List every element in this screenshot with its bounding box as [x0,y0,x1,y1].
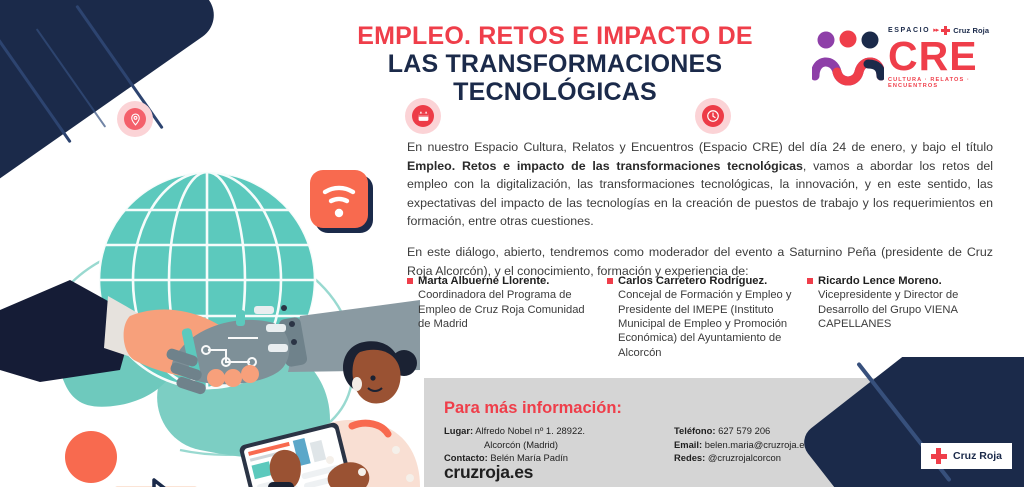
footer-telefono-value: 627 579 206 [718,425,770,436]
speakers-list: Marta Albuerne Llorente. Coordinadora de… [407,274,1007,360]
speaker-item: Ricardo Lence Moreno. Vicepresidente y D… [807,274,997,360]
footer-column-contact: Teléfono: 627 579 206 Email: belen.maria… [674,424,809,465]
footer-email-row: Email: belen.maria@cruzroja.es [674,438,809,452]
footer-telefono-label: Teléfono: [674,425,716,436]
cre-tagline: CULTURA · RELATOS · ENCUENTROS [888,77,1006,89]
bullet-square-icon [807,278,813,284]
footer-redes-label: Redes: [674,452,705,463]
speaker-name-row: Ricardo Lence Moreno. [807,274,997,288]
speaker-name-row: Carlos Carretero Rodríguez. [607,274,797,288]
red-cross-icon [931,448,947,464]
footer-redes-value: @cruzrojalcorcon [708,452,781,463]
footer-heading: Para más información: [444,399,622,418]
paragraph-1: En nuestro Espacio Cultura, Relatos y En… [407,138,993,231]
cruz-roja-badge: Cruz Roja [921,443,1012,469]
cursor-arrow-icon [154,480,200,487]
speaker-name-row: Marta Albuerne Llorente. [407,274,597,288]
speaker-name: Ricardo Lence Moreno. [818,274,942,288]
bullet-square-icon [407,278,413,284]
illustration-handshake-technology [0,120,420,487]
cre-logo: ESPACIO ▸▸ Cruz Roja CRE CULTURA · RELAT… [812,24,1002,96]
speaker-name: Marta Albuerne Llorente. [418,274,549,288]
footer-column-address: Lugar: Alfredo Nobel nº 1. 28922. Alcorc… [444,424,585,465]
title-line-1: EMPLEO. RETOS E IMPACTO DE [300,22,810,50]
bullet-square-icon [607,278,613,284]
p1-part-a: En nuestro Espacio Cultura, Relatos y En… [407,140,993,154]
speaker-name: Carlos Carretero Rodríguez. [618,274,767,288]
title-line-2: LAS TRANSFORMACIONES TECNOLÓGICAS [300,50,810,106]
speaker-item: Carlos Carretero Rodríguez. Concejal de … [607,274,797,360]
body-copy: En nuestro Espacio Cultura, Relatos y En… [407,138,993,292]
footer-lugar-value: Alfredo Nobel nº 1. 28922. [475,425,585,436]
red-cross-icon [941,26,950,35]
footer-lugar-row: Lugar: Alfredo Nobel nº 1. 28922. [444,424,585,438]
footer-email-label: Email: [674,439,702,450]
speaker-role: Vicepresidente y Director de Desarrollo … [807,288,997,331]
footer-telefono-row: Teléfono: 627 579 206 [674,424,809,438]
page-title: EMPLEO. RETOS E IMPACTO DE LAS TRANSFORM… [300,22,810,106]
footer-redes-row: Redes: @cruzrojalcorcon [674,451,809,465]
wifi-icon-tile [310,170,373,233]
clock-icon [702,105,724,127]
three-people-icon [812,28,884,86]
footer-website[interactable]: cruzroja.es [444,462,533,483]
footer-lugar-label: Lugar: [444,425,473,436]
cruz-roja-badge-label: Cruz Roja [953,450,1002,462]
speaker-item: Marta Albuerne Llorente. Coordinadora de… [407,274,597,360]
cre-acronym: CRE [888,37,1006,76]
footer-lugar-value2: Alcorcón (Madrid) [444,438,585,452]
speaker-role: Coordinadora del Programa de Empleo de C… [407,288,597,331]
cre-logo-text: ESPACIO ▸▸ Cruz Roja CRE CULTURA · RELAT… [888,24,1006,89]
poster-canvas: EMPLEO. RETOS E IMPACTO DE LAS TRANSFORM… [0,0,1024,487]
speaker-role: Concejal de Formación y Empleo y Preside… [607,288,797,360]
p1-bold-title: Empleo. Retos e impacto de las transform… [407,159,803,173]
